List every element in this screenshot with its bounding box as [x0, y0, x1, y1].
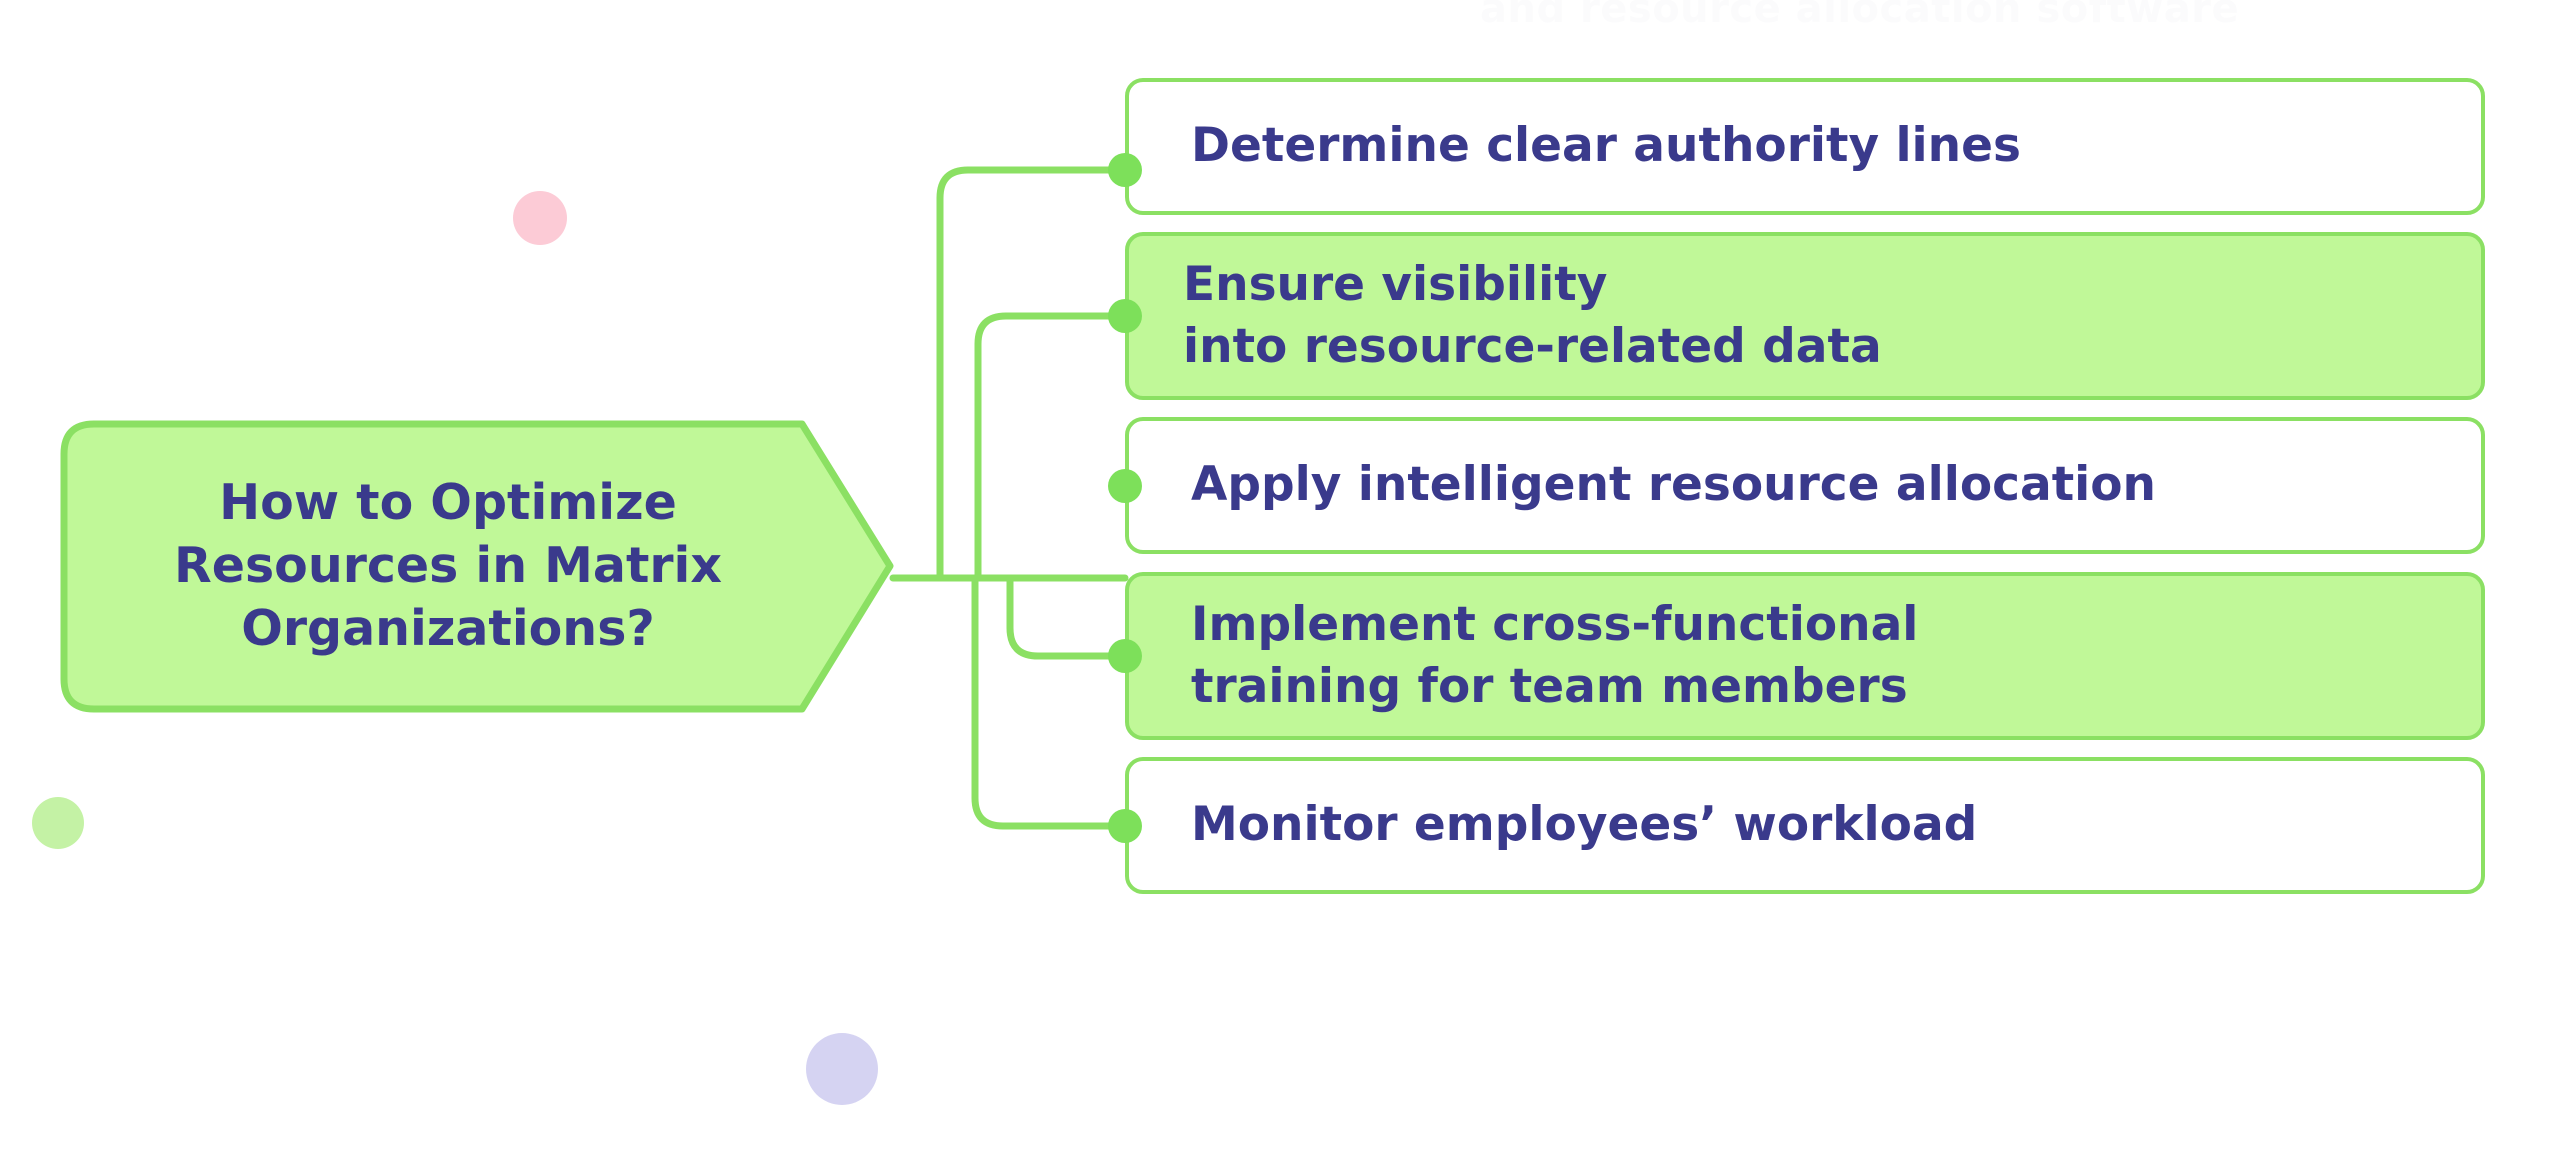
mindmap-canvas: and resource allocation software How to …	[0, 0, 2560, 1153]
branch-box-ensure-visibility[interactable]: Ensure visibility into resource-related …	[1125, 232, 2485, 400]
connector-dot-2[interactable]	[1108, 299, 1142, 333]
connector-branch-2	[978, 316, 1125, 578]
connector-branch-5	[975, 578, 1125, 826]
connector-dot-4[interactable]	[1108, 639, 1142, 673]
branch-box-monitor-workload[interactable]: Monitor employees’ workload	[1125, 757, 2485, 894]
connector-branch-1	[940, 170, 1125, 578]
central-node-label: How to Optimize Resources in Matrix Orga…	[42, 420, 854, 713]
branch-label: Ensure visibility into resource-related …	[1129, 254, 1906, 378]
branch-label: Determine clear authority lines	[1129, 115, 2045, 177]
branch-box-cross-functional-training[interactable]: Implement cross-functional training for …	[1125, 572, 2485, 740]
branch-label: Apply intelligent resource allocation	[1129, 454, 2180, 516]
branch-label: Monitor employees’ workload	[1129, 794, 2001, 856]
connector-dot-5[interactable]	[1108, 809, 1142, 843]
branch-box-determine-authority-lines[interactable]: Determine clear authority lines	[1125, 78, 2485, 215]
connector-branch-4	[1010, 578, 1125, 656]
connector-dot-1[interactable]	[1108, 153, 1142, 187]
connector-dot-3[interactable]	[1108, 469, 1142, 503]
branch-box-intelligent-allocation[interactable]: Apply intelligent resource allocation	[1125, 417, 2485, 554]
central-node[interactable]: How to Optimize Resources in Matrix Orga…	[42, 420, 897, 713]
branch-label: Implement cross-functional training for …	[1129, 594, 1942, 718]
